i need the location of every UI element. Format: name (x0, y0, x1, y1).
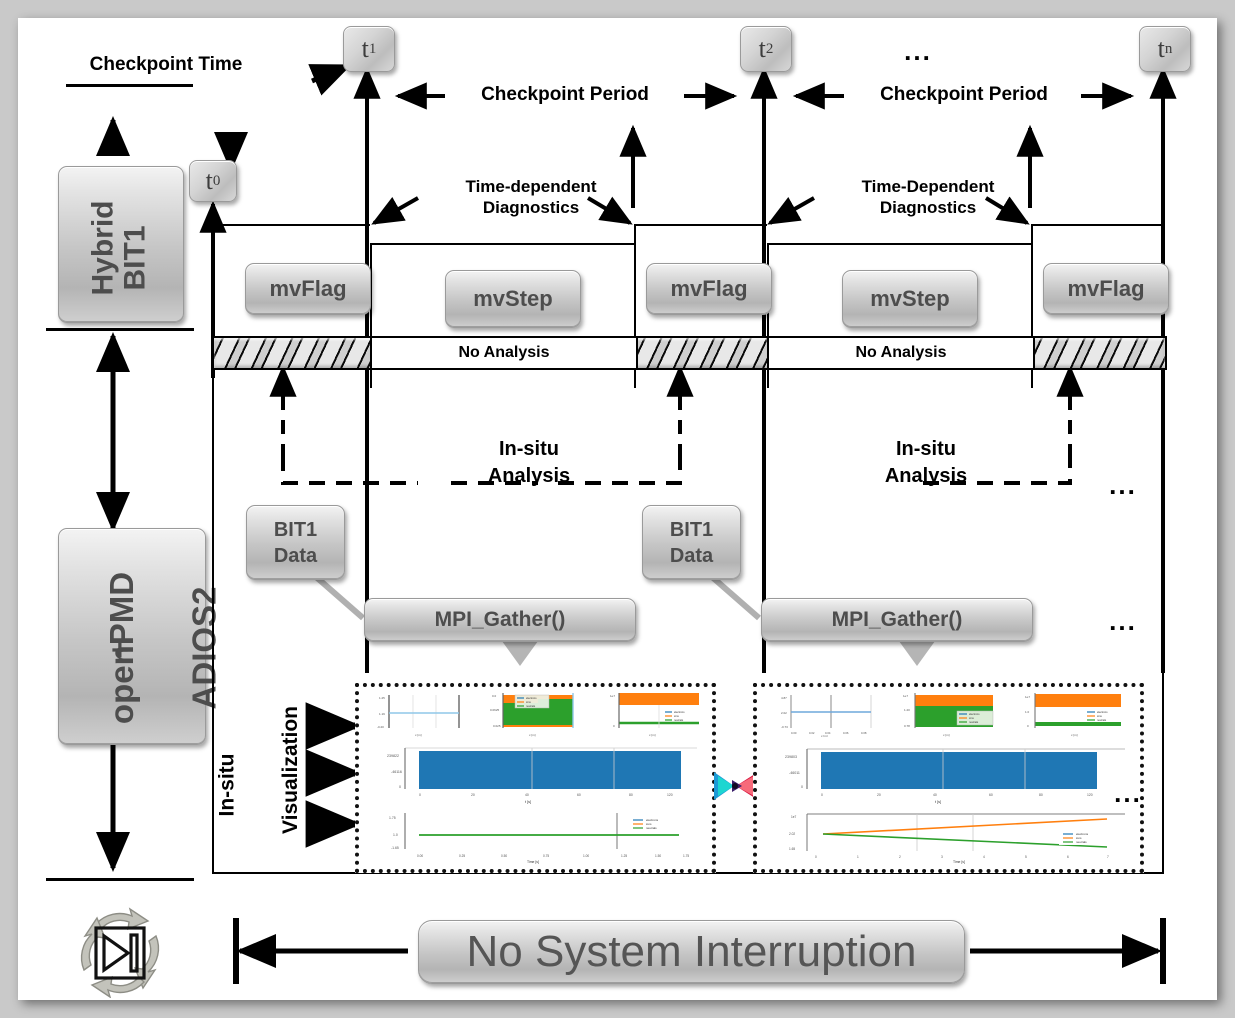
svg-text:1e7: 1e7 (903, 694, 908, 698)
bit1-data-1-line1: BIT1 (274, 517, 317, 543)
svg-text:1.00: 1.00 (583, 854, 589, 858)
viz-panel-2[interactable]: 4.87 2.02 -0.73 0.00 0.02 0.04 0.06 0.08… (753, 683, 1144, 873)
svg-text:Time [s]: Time [s] (527, 860, 539, 864)
insitu-analysis-ellipsis: ... (1093, 470, 1153, 501)
loop-play-icon (66, 906, 174, 998)
bit1-data-2-line1: BIT1 (670, 517, 713, 543)
svg-text:3: 3 (941, 855, 943, 859)
block-hybrid-bit1-line2: BIT1 (119, 225, 153, 290)
svg-text:-0.20: -0.20 (377, 725, 384, 729)
analysis-hatch-2 (634, 336, 771, 370)
svg-text:1.0: 1.0 (393, 833, 398, 837)
timeline-frame-left (212, 224, 214, 874)
divider-lower (46, 878, 194, 881)
time-dependent-diagnostics-1: Time-dependent Diagnostics (418, 176, 644, 218)
insitu-analysis-1: In-situ Analysis (418, 436, 640, 490)
svg-text:40: 40 (933, 793, 937, 797)
svg-text:-1.65: -1.65 (391, 846, 399, 850)
marker-tn[interactable]: tn (1139, 26, 1191, 72)
insitu-analysis-1-line1: In-situ (418, 436, 640, 463)
marker-t2-label: t (759, 34, 766, 64)
svg-text:0: 0 (815, 855, 817, 859)
svg-text:t [s]: t [s] (935, 800, 941, 804)
svg-text:-46116: -46116 (391, 770, 402, 774)
svg-text:1.50: 1.50 (655, 854, 661, 858)
block-openpmd-plus: + (104, 641, 138, 659)
svg-text:electrons: electrons (526, 696, 537, 700)
svg-text:t [s]: t [s] (525, 800, 531, 804)
svg-text:ions: ions (1097, 714, 1102, 718)
svg-text:120: 120 (667, 793, 673, 797)
svg-text:electrons: electrons (1097, 710, 1108, 714)
svg-text:239803: 239803 (785, 755, 797, 759)
svg-text:2.02: 2.02 (781, 711, 787, 715)
analysis-hatch-3 (1031, 336, 1167, 370)
step-mvflag-2[interactable]: mvFlag (646, 263, 772, 315)
tdd2-line2: Diagnostics (815, 197, 1041, 218)
svg-text:1: 1 (857, 855, 859, 859)
no-system-interruption-label: No System Interruption (467, 927, 917, 977)
insitu-analysis-1-line2: Analysis (418, 463, 640, 490)
svg-text:0.025: 0.025 (493, 724, 501, 728)
svg-text:60: 60 (577, 793, 581, 797)
svg-text:neutrals: neutrals (1076, 840, 1087, 844)
svg-text:0: 0 (801, 785, 803, 789)
checkpoint-time-underline (66, 84, 193, 87)
step-mvflag-1[interactable]: mvFlag (245, 263, 371, 315)
svg-text:x [m]: x [m] (821, 734, 828, 737)
bit1-data-2-line2: Data (670, 543, 713, 569)
insitu-visualization-label: In-situ Visualization (226, 678, 306, 878)
svg-text:0: 0 (821, 793, 823, 797)
svg-text:-46011: -46011 (789, 771, 800, 775)
marker-t2[interactable]: t2 (740, 26, 792, 72)
svg-text:0.00: 0.00 (791, 731, 797, 735)
svg-text:x [m]: x [m] (415, 733, 422, 737)
analysis-hatch-1 (212, 336, 374, 370)
marker-t1[interactable]: t1 (343, 26, 395, 72)
svg-text:neutrals: neutrals (646, 826, 657, 830)
marker-t0[interactable]: t0 (189, 160, 237, 202)
figure-canvas: Checkpoint Time Hybrid BIT1 openPMD + AD… (18, 18, 1217, 1000)
svg-text:ions: ions (526, 700, 531, 704)
rail-upper-b (370, 243, 634, 245)
svg-text:1.65: 1.65 (789, 847, 795, 851)
rail-upper-e (1031, 224, 1163, 226)
no-analysis-band-2: No Analysis (767, 336, 1035, 370)
svg-text:1.25: 1.25 (379, 696, 385, 700)
svg-text:6: 6 (1067, 855, 1069, 859)
svg-text:239822: 239822 (387, 754, 399, 758)
bit1-data-1[interactable]: BIT1 Data (246, 505, 345, 580)
svg-text:ions: ions (674, 714, 679, 718)
svg-text:x [m]: x [m] (943, 733, 950, 737)
footer-tick-right (1160, 918, 1166, 984)
mpi-gather-ellipsis: ... (1093, 606, 1153, 637)
insitu-analysis-2-line2: Analysis (815, 463, 1037, 490)
viz-panel-1-row-1-chart-2: electrons ions neutrals 0.0 0.0625 0.025… (481, 689, 581, 737)
svg-text:0.25: 0.25 (459, 854, 465, 858)
svg-text:7: 7 (1107, 855, 1109, 859)
viz-panel-1-row-2-chart: 239822 -46116 0 0 20 40 60 80 120 t [s] (367, 743, 705, 805)
viz-panel-2-row-1-chart-3: electrons ions neutrals 1e7 1.0 0 x [m] (1011, 689, 1129, 737)
svg-text:80: 80 (1039, 793, 1043, 797)
step-mvflag-3[interactable]: mvFlag (1043, 263, 1169, 315)
no-analysis-band-1: No Analysis (370, 336, 638, 370)
checkpoint-time-label: Checkpoint Time (56, 54, 276, 76)
block-hybrid-bit1[interactable]: Hybrid BIT1 (58, 166, 184, 323)
svg-text:0.50: 0.50 (501, 854, 507, 858)
svg-text:0.00: 0.00 (417, 854, 423, 858)
svg-text:0.0625: 0.0625 (490, 708, 500, 712)
timeline-frame-right (1162, 224, 1164, 874)
bit1-data-1-line2: Data (274, 543, 317, 569)
svg-text:1e7: 1e7 (791, 815, 797, 819)
marker-t1-sub: 1 (369, 41, 377, 58)
svg-text:0.06: 0.06 (843, 731, 849, 735)
svg-text:0: 0 (419, 793, 421, 797)
checkpoint-period-2: Checkpoint Period (850, 84, 1078, 106)
rail-upper-a (212, 224, 370, 226)
svg-text:0.08: 0.08 (861, 731, 867, 735)
svg-text:0.0: 0.0 (492, 694, 497, 698)
svg-text:ions: ions (969, 716, 974, 720)
svg-text:0.75: 0.75 (543, 854, 549, 858)
svg-text:electrons: electrons (969, 712, 980, 716)
svg-text:1.75: 1.75 (389, 816, 396, 820)
svg-text:x [m]: x [m] (529, 733, 536, 737)
viz-panel-ellipsis: ... (1098, 778, 1158, 809)
viz-panel-2-row-1-chart-1: 4.87 2.02 -0.73 0.00 0.02 0.04 0.06 0.08… (767, 691, 879, 737)
insitu-visualization-line1: In-situ (216, 754, 240, 817)
block-openpmd-adios2[interactable]: openPMD + ADIOS2 (58, 528, 206, 745)
time-dependent-diagnostics-2: Time-Dependent Diagnostics (815, 176, 1041, 218)
footer-tick-left (233, 918, 239, 984)
svg-text:neutrals: neutrals (674, 718, 684, 722)
svg-text:1.19: 1.19 (379, 712, 385, 716)
svg-text:x [m]: x [m] (1071, 733, 1078, 737)
svg-text:neutrals: neutrals (526, 704, 536, 708)
svg-text:0: 0 (399, 785, 401, 789)
svg-text:80: 80 (629, 793, 633, 797)
tdd2-line1: Time-Dependent (815, 176, 1041, 197)
svg-text:120: 120 (1087, 793, 1093, 797)
marker-t1-label: t (362, 34, 369, 64)
svg-text:1.25: 1.25 (621, 854, 627, 858)
svg-text:2.02: 2.02 (789, 832, 795, 836)
timeline-ellipsis-top: ... (878, 36, 958, 67)
marker-tn-label: t (1158, 34, 1165, 64)
block-adios2-line2: ADIOS2 (185, 587, 223, 710)
block-hybrid-bit1-line1: Hybrid (87, 200, 121, 295)
svg-text:neutrals: neutrals (969, 720, 979, 724)
svg-text:20: 20 (877, 793, 881, 797)
mpi-gather-2[interactable]: MPI_Gather() (761, 598, 1033, 642)
marker-t0-sub: 0 (213, 173, 221, 190)
svg-text:4.87: 4.87 (781, 696, 787, 700)
viz-panel-2-row-1-chart-2: electrons ions neutrals 1e7 1.20 0.78 x … (891, 689, 999, 737)
divider-upper (46, 328, 194, 331)
checkpoint-period-1: Checkpoint Period (451, 84, 679, 106)
step-mvstep-2[interactable]: mvStep (842, 270, 978, 328)
viz-panel-1-row-3-chart: electrons ions neutrals 1.75 1.0 -1.65 0… (367, 809, 705, 865)
bit1-data-2[interactable]: BIT1 Data (642, 505, 741, 580)
svg-text:Time [s]: Time [s] (953, 860, 965, 864)
svg-text:1.75: 1.75 (683, 854, 689, 858)
marker-t2-sub: 2 (766, 41, 774, 58)
svg-text:2: 2 (899, 855, 901, 859)
insitu-analysis-2-line1: In-situ (815, 436, 1037, 463)
rail-upper-d (767, 243, 1031, 245)
step-mvstep-1[interactable]: mvStep (445, 270, 581, 328)
no-system-interruption-banner[interactable]: No System Interruption (418, 920, 965, 984)
svg-text:1.0: 1.0 (1025, 710, 1030, 714)
viz-panel-1[interactable]: 1.25 1.19 -0.20 x [m] electrons ions neu… (355, 683, 716, 873)
svg-text:40: 40 (525, 793, 529, 797)
tdd1-line1: Time-dependent (418, 176, 644, 197)
viz-panel-2-row-3-chart: electrons ions neutrals 1e7 2.02 1.65 0 … (767, 809, 1133, 865)
svg-text:0.02: 0.02 (809, 731, 815, 735)
svg-text:0.78: 0.78 (904, 724, 910, 728)
viz-panel-1-row-1-chart-1: 1.25 1.19 -0.20 x [m] (367, 691, 467, 737)
rail-upper-c (634, 224, 767, 226)
svg-text:-0.73: -0.73 (781, 725, 788, 729)
mpi-gather-1[interactable]: MPI_Gather() (364, 598, 636, 642)
viz-panel-1-row-1-chart-3: electrons ions neutrals 1e7 0 x [m] (597, 689, 705, 737)
svg-text:1e7: 1e7 (610, 694, 615, 698)
svg-text:x [m]: x [m] (649, 733, 656, 737)
tdd1-line2: Diagnostics (418, 197, 644, 218)
svg-text:5: 5 (1025, 855, 1027, 859)
viz-panel-2-row-2-chart: 239803 -46011 0 0 20 40 60 80 120 t [s] (767, 743, 1133, 805)
marker-tn-sub: n (1165, 41, 1173, 58)
svg-text:60: 60 (989, 793, 993, 797)
svg-text:20: 20 (471, 793, 475, 797)
svg-text:4: 4 (983, 855, 985, 859)
svg-text:electrons: electrons (674, 710, 685, 714)
insitu-analysis-2: In-situ Analysis (815, 436, 1037, 490)
svg-text:1.20: 1.20 (904, 708, 910, 712)
svg-text:neutrals: neutrals (1097, 718, 1107, 722)
svg-text:1e7: 1e7 (1025, 695, 1030, 699)
insitu-visualization-line2: Visualization (279, 706, 303, 834)
marker-t0-label: t (206, 166, 213, 196)
